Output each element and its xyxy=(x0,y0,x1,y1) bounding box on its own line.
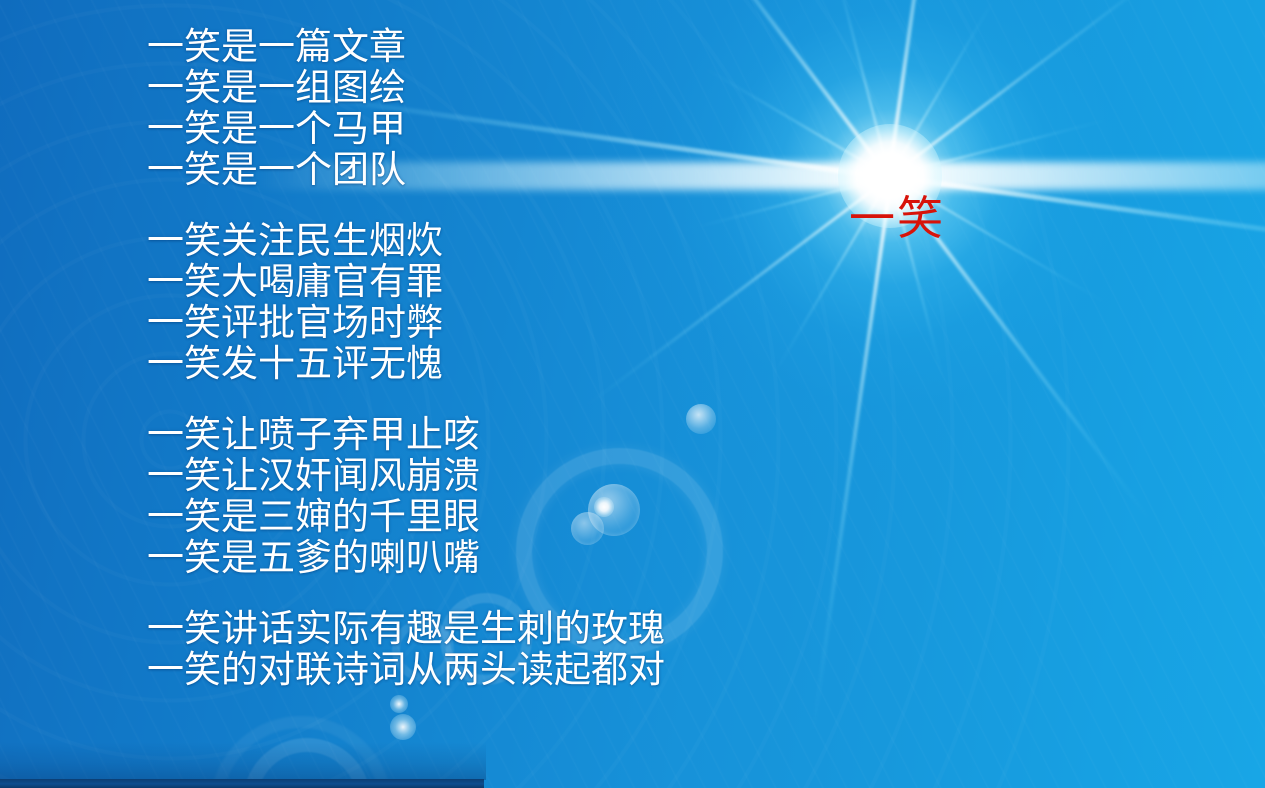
poem-line: 一笑发十五评无愧 xyxy=(147,343,707,384)
poem-stanza: 一笑让喷子弃甲止咳一笑让汉奸闻风崩溃一笑是三婶的千里眼一笑是五爹的喇叭嘴 xyxy=(147,414,707,578)
poem-body: 一笑是一篇文章一笑是一组图绘一笑是一个马甲一笑是一个团队一笑关注民生烟炊一笑大喝… xyxy=(147,26,707,690)
poem-line: 一笑是三婶的千里眼 xyxy=(147,496,707,537)
poem-line: 一笑是一个团队 xyxy=(147,149,707,190)
poem-stanza: 一笑是一篇文章一笑是一组图绘一笑是一个马甲一笑是一个团队 xyxy=(147,26,707,190)
poem-line: 一笑是一个马甲 xyxy=(147,108,707,149)
poem-line: 一笑评批官场时弊 xyxy=(147,302,707,343)
poem-line: 一笑的对联诗词从两头读起都对 xyxy=(147,649,707,690)
poem-stanza: 一笑讲话实际有趣是生刺的玫瑰一笑的对联诗词从两头读起都对 xyxy=(147,608,707,690)
poem-line: 一笑是五爹的喇叭嘴 xyxy=(147,537,707,578)
poem-line: 一笑大喝庸官有罪 xyxy=(147,261,707,302)
poem-line: 一笑让喷子弃甲止咳 xyxy=(147,414,707,455)
slide-title-red: 一笑 xyxy=(849,193,945,243)
presentation-slide: 一笑是一篇文章一笑是一组图绘一笑是一个马甲一笑是一个团队一笑关注民生烟炊一笑大喝… xyxy=(0,0,1265,788)
poem-line: 一笑是一篇文章 xyxy=(147,26,707,67)
poem-line: 一笑讲话实际有趣是生刺的玫瑰 xyxy=(147,608,707,649)
poem-line: 一笑关注民生烟炊 xyxy=(147,220,707,261)
poem-line: 一笑是一组图绘 xyxy=(147,67,707,108)
poem-line: 一笑让汉奸闻风崩溃 xyxy=(147,455,707,496)
poem-stanza: 一笑关注民生烟炊一笑大喝庸官有罪一笑评批官场时弊一笑发十五评无愧 xyxy=(147,220,707,384)
bottom-accent-bar xyxy=(0,779,484,788)
